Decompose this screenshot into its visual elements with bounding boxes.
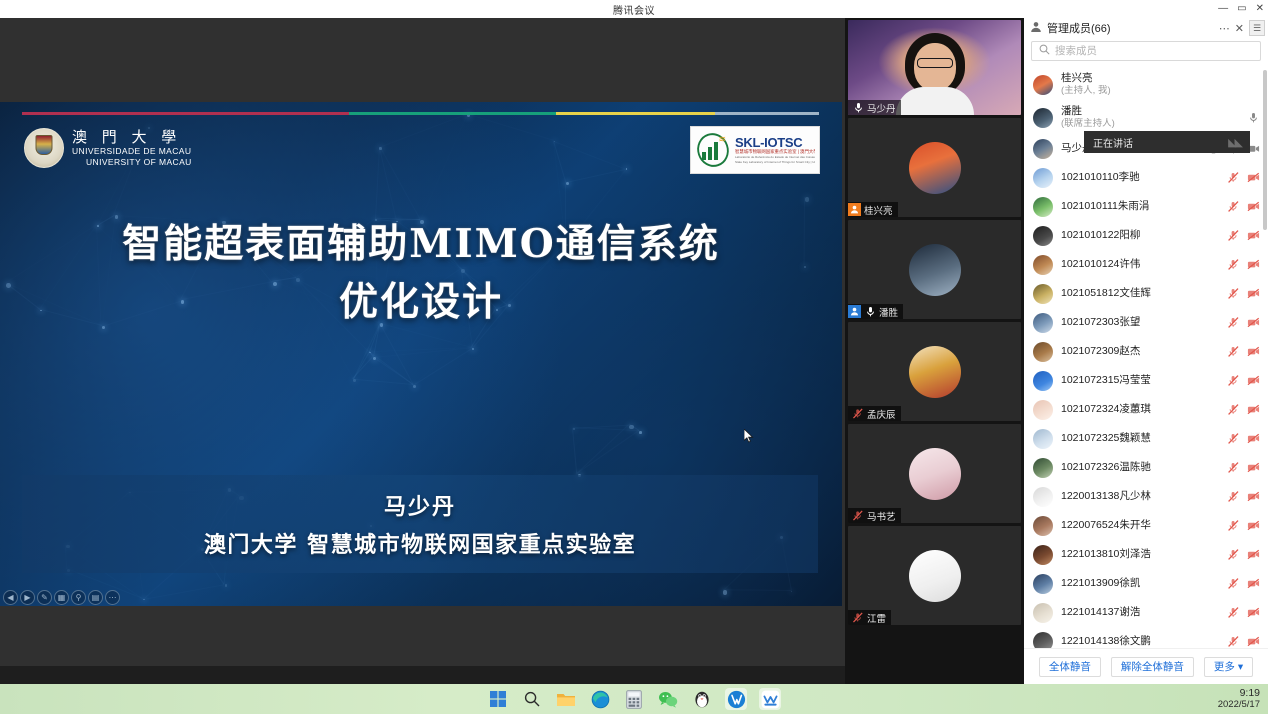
camera-off-icon[interactable] bbox=[1247, 316, 1260, 329]
camera-off-icon[interactable] bbox=[1247, 490, 1260, 503]
participant-row[interactable]: 1220013138凡少林 bbox=[1024, 482, 1268, 511]
um-name-cn: 澳 門 大 學 bbox=[72, 128, 192, 146]
microphone-on-icon bbox=[864, 305, 876, 318]
participant-avatar bbox=[1033, 371, 1053, 391]
participants-panel-footer: 全体静音 解除全体静音 更多 ▾ bbox=[1024, 648, 1268, 684]
participant-avatar bbox=[1033, 458, 1053, 478]
slide-title: 智能超表面辅助MIMO通信系统 优化设计 bbox=[0, 215, 842, 331]
participant-row[interactable]: 1021051812文佳辉 bbox=[1024, 279, 1268, 308]
video-tile-name: 桂兴亮 bbox=[864, 203, 893, 217]
participant-name: 1021010124许伟 bbox=[1061, 258, 1219, 271]
participant-avatar bbox=[1033, 168, 1053, 188]
participant-avatar bbox=[1033, 429, 1053, 449]
video-tile[interactable]: 江雷 bbox=[848, 526, 1021, 625]
video-tile[interactable]: 潘胜 bbox=[848, 220, 1021, 319]
microphone-muted-icon[interactable] bbox=[1227, 577, 1240, 590]
um-crest-icon bbox=[24, 128, 64, 168]
camera-off-icon[interactable] bbox=[1247, 432, 1260, 445]
audio-wave-icon: ◣◣ bbox=[1228, 136, 1241, 149]
participant-row[interactable]: 1021072309赵杰 bbox=[1024, 337, 1268, 366]
slide-title-line-1: 智能超表面辅助MIMO通信系统 bbox=[0, 215, 842, 273]
participant-row[interactable]: 1221014137谢浩 bbox=[1024, 598, 1268, 627]
microphone-muted-icon[interactable] bbox=[1227, 258, 1240, 271]
video-tile-name-bar: 潘胜 bbox=[848, 304, 903, 319]
chevron-down-icon: ▾ bbox=[1238, 661, 1243, 673]
microphone-on-icon bbox=[852, 101, 864, 114]
participant-avatar bbox=[1033, 313, 1053, 333]
search-icon[interactable] bbox=[521, 688, 543, 710]
participant-avatar bbox=[1033, 516, 1053, 536]
participant-name: 1220076524朱开华 bbox=[1061, 519, 1219, 532]
microphone-muted-icon[interactable] bbox=[1227, 635, 1240, 648]
video-filmstrip[interactable]: 马少丹桂兴亮潘胜孟庆辰马书艺江雷 bbox=[845, 18, 1024, 684]
presentation-toolbar[interactable]: ◀▶✎▦⚲▤⋯ bbox=[3, 590, 120, 605]
video-tile-name: 孟庆辰 bbox=[867, 407, 896, 421]
slide-title-line-2: 优化设计 bbox=[0, 273, 842, 331]
video-tile-name-bar: 马书艺 bbox=[848, 508, 901, 523]
shared-screen-region[interactable]: 澳 門 大 學 UNIVERSIDADE DE MACAU UNIVERSITY… bbox=[0, 18, 845, 666]
um-name-pt: UNIVERSIDADE DE MACAU bbox=[72, 146, 192, 157]
speaking-tooltip-label: 正在讲话 bbox=[1093, 135, 1133, 150]
participant-name: 1021010111朱雨涓 bbox=[1061, 200, 1219, 213]
slide-affiliation: 澳门大学 智慧城市物联网国家重点实验室 bbox=[204, 527, 636, 559]
microsoft-edge-icon[interactable] bbox=[589, 688, 611, 710]
window-controls: — ▭ ✕ bbox=[1218, 0, 1264, 18]
tencent-meeting-icon[interactable] bbox=[759, 688, 781, 710]
microphone-muted-icon[interactable] bbox=[1227, 432, 1240, 445]
microphone-muted-icon[interactable] bbox=[1227, 461, 1240, 474]
microphone-muted-icon bbox=[852, 611, 864, 624]
participant-row[interactable]: 1220076524朱开华 bbox=[1024, 511, 1268, 540]
participant-row[interactable]: 1221013810刘泽浩 bbox=[1024, 540, 1268, 569]
participant-name: 潘胜 bbox=[1061, 105, 1239, 118]
video-tile[interactable]: 马书艺 bbox=[848, 424, 1021, 523]
wechat-icon[interactable] bbox=[657, 688, 679, 710]
participant-avatar bbox=[1033, 197, 1053, 217]
participant-avatar bbox=[909, 142, 961, 194]
panel-close-icon[interactable]: ✕ bbox=[1235, 22, 1244, 35]
video-tile-name: 潘胜 bbox=[879, 305, 898, 319]
participant-row[interactable]: 1021010122阳柳 bbox=[1024, 221, 1268, 250]
microphone-muted-icon[interactable] bbox=[1227, 287, 1240, 300]
participant-avatar bbox=[1033, 342, 1053, 362]
slide-thumbnails-button[interactable]: ▦ bbox=[54, 590, 69, 605]
windows-taskbar[interactable]: 9:19 2022/5/17 bbox=[0, 684, 1268, 714]
unmute-all-label: 解除全体静音 bbox=[1121, 659, 1184, 674]
panel-more-icon[interactable]: ⋯ bbox=[1219, 22, 1230, 35]
video-tile[interactable]: 桂兴亮 bbox=[848, 118, 1021, 217]
host-badge-icon bbox=[848, 203, 861, 216]
microphone-muted-icon[interactable] bbox=[1227, 548, 1240, 561]
video-tile[interactable]: 孟庆辰 bbox=[848, 322, 1021, 421]
participant-avatar bbox=[909, 244, 961, 296]
presenter-view-button[interactable]: ▤ bbox=[88, 590, 103, 605]
participant-row[interactable]: 1021072315冯莹莹 bbox=[1024, 366, 1268, 395]
participant-row[interactable]: 1021010111朱雨涓 bbox=[1024, 192, 1268, 221]
participant-avatar bbox=[1033, 75, 1053, 95]
skl-logo-sub2: State Key Laboratory of Internet of Thin… bbox=[735, 160, 815, 164]
participant-name: 1220013138凡少林 bbox=[1061, 490, 1219, 503]
clock-time: 9:19 bbox=[1218, 687, 1260, 699]
participant-row[interactable]: 1021072325魏颖慧 bbox=[1024, 424, 1268, 453]
video-tile-name-bar: 江雷 bbox=[848, 610, 891, 625]
microphone-muted-icon[interactable] bbox=[1227, 316, 1240, 329]
participant-avatar bbox=[1033, 255, 1053, 275]
skl-mark-icon: ≋ bbox=[695, 132, 731, 168]
more-actions-label: 更多 bbox=[1214, 659, 1235, 674]
minimize-button[interactable]: — bbox=[1218, 0, 1228, 18]
slide-color-rule bbox=[22, 112, 819, 115]
participant-avatar bbox=[909, 448, 961, 500]
start-button[interactable] bbox=[487, 688, 509, 710]
participant-row[interactable]: 潘胜(联席主持人) bbox=[1024, 101, 1268, 134]
camera-off-icon[interactable] bbox=[1247, 403, 1260, 416]
participant-avatar bbox=[1033, 284, 1053, 304]
microphone-muted-icon[interactable] bbox=[1227, 374, 1240, 387]
close-button[interactable]: ✕ bbox=[1256, 0, 1264, 18]
unmute-all-button[interactable]: 解除全体静音 bbox=[1111, 657, 1194, 677]
meeting-window: 澳 門 大 學 UNIVERSIDADE DE MACAU UNIVERSITY… bbox=[0, 18, 1268, 684]
skl-iotsc-logo: ≋ SKL-IOTSC 智慧城市物联网国家重点实验室 | 澳門大學 Labora… bbox=[690, 126, 820, 174]
microphone-muted-icon bbox=[852, 407, 864, 420]
speaking-tooltip: 正在讲话 ◣◣ bbox=[1084, 131, 1250, 153]
video-tile-name: 马少丹 bbox=[867, 101, 896, 115]
microphone-muted-icon[interactable] bbox=[1227, 490, 1240, 503]
wps-icon[interactable] bbox=[725, 688, 747, 710]
participant-avatar bbox=[909, 550, 961, 602]
participants-scrollbar[interactable] bbox=[1263, 70, 1267, 230]
skl-logo-sub1: Laboratório de Referência do Estado de I… bbox=[735, 155, 815, 159]
participants-icon bbox=[1030, 21, 1042, 36]
participant-name: 1021072303张望 bbox=[1061, 316, 1219, 329]
mouse-cursor bbox=[744, 429, 754, 443]
participant-row[interactable]: 桂兴亮(主持人, 我) bbox=[1024, 68, 1268, 101]
microphone-on-icon[interactable] bbox=[1247, 111, 1260, 124]
participant-avatar bbox=[909, 346, 961, 398]
camera-off-icon[interactable] bbox=[1247, 229, 1260, 242]
search-input[interactable] bbox=[1055, 45, 1253, 57]
participants-panel[interactable]: 管理成员(66) ⋯ ✕ ☰ 桂兴亮(主持人, 我)潘胜(联席主持人)马少丹10… bbox=[1024, 18, 1268, 684]
participant-name: 1221013909徐凯 bbox=[1061, 577, 1219, 590]
camera-off-icon[interactable] bbox=[1247, 258, 1260, 271]
microphone-muted-icon[interactable] bbox=[1227, 519, 1240, 532]
participants-search-area bbox=[1024, 38, 1268, 66]
um-name-en: UNIVERSITY OF MACAU bbox=[72, 157, 192, 168]
university-of-macau-logo: 澳 門 大 學 UNIVERSIDADE DE MACAU UNIVERSITY… bbox=[24, 128, 192, 168]
video-tile-name-bar: 桂兴亮 bbox=[848, 202, 898, 217]
slide-presenter-name: 马少丹 bbox=[384, 489, 456, 521]
zoom-tool-button[interactable]: ⚲ bbox=[71, 590, 86, 605]
camera-off-icon[interactable] bbox=[1247, 461, 1260, 474]
pen-tool-button[interactable]: ✎ bbox=[37, 590, 52, 605]
participant-role-label: (联席主持人) bbox=[1061, 118, 1239, 130]
participant-name: 1021072326温陈驰 bbox=[1061, 461, 1219, 474]
panel-grip-icon[interactable]: ☰ bbox=[1249, 20, 1265, 36]
calculator-icon[interactable] bbox=[623, 688, 645, 710]
prev-slide-button[interactable]: ◀ bbox=[3, 590, 18, 605]
camera-off-icon[interactable] bbox=[1247, 374, 1260, 387]
participant-avatar bbox=[1033, 139, 1053, 159]
window-title-bar: 腾讯会议 — ▭ ✕ bbox=[0, 0, 1268, 18]
co-host-badge-icon bbox=[848, 305, 861, 318]
skl-logo-title: SKL-IOTSC bbox=[735, 136, 815, 149]
slide-presenter-band: 马少丹 澳门大学 智慧城市物联网国家重点实验室 bbox=[22, 475, 818, 573]
camera-off-icon[interactable] bbox=[1247, 519, 1260, 532]
more-actions-button[interactable]: 更多 ▾ bbox=[1204, 657, 1253, 677]
participant-row[interactable]: 1021010124许伟 bbox=[1024, 250, 1268, 279]
participant-avatar bbox=[1033, 574, 1053, 594]
camera-off-icon[interactable] bbox=[1247, 200, 1260, 213]
video-tile-name-bar: 孟庆辰 bbox=[848, 406, 901, 421]
taskbar-icons[interactable] bbox=[487, 688, 781, 710]
microphone-muted-icon[interactable] bbox=[1227, 606, 1240, 619]
participants-panel-header: 管理成员(66) ⋯ ✕ ☰ bbox=[1024, 18, 1268, 38]
presentation-slide[interactable]: 澳 門 大 學 UNIVERSIDADE DE MACAU UNIVERSITY… bbox=[0, 102, 842, 606]
camera-off-icon[interactable] bbox=[1247, 287, 1260, 300]
participant-name: 1021010122阳柳 bbox=[1061, 229, 1219, 242]
camera-off-icon[interactable] bbox=[1247, 606, 1260, 619]
camera-off-icon[interactable] bbox=[1247, 345, 1260, 358]
qq-icon[interactable] bbox=[691, 688, 713, 710]
participants-panel-title: 管理成员(66) bbox=[1047, 20, 1111, 36]
participant-name: 1221014137谢浩 bbox=[1061, 606, 1219, 619]
camera-off-icon[interactable] bbox=[1247, 171, 1260, 184]
search-box[interactable] bbox=[1031, 41, 1261, 61]
mute-all-label: 全体静音 bbox=[1049, 659, 1091, 674]
participant-name: 1021072309赵杰 bbox=[1061, 345, 1219, 358]
clock-date: 2022/5/17 bbox=[1218, 699, 1260, 711]
participants-list[interactable]: 桂兴亮(主持人, 我)潘胜(联席主持人)马少丹1021010110李驰10210… bbox=[1024, 68, 1268, 665]
next-slide-button[interactable]: ▶ bbox=[20, 590, 35, 605]
mute-all-button[interactable]: 全体静音 bbox=[1039, 657, 1101, 677]
more-options-button[interactable]: ⋯ bbox=[105, 590, 120, 605]
participant-name: 桂兴亮 bbox=[1061, 72, 1252, 85]
window-title: 腾讯会议 bbox=[613, 2, 655, 17]
taskbar-clock[interactable]: 9:19 2022/5/17 bbox=[1218, 687, 1260, 711]
search-icon bbox=[1039, 44, 1050, 58]
participant-row[interactable]: 1221013909徐凯 bbox=[1024, 569, 1268, 598]
participant-avatar bbox=[1033, 108, 1053, 128]
video-tile-name: 江雷 bbox=[867, 611, 886, 625]
camera-off-icon[interactable] bbox=[1247, 548, 1260, 561]
participant-row[interactable]: 1021072303张望 bbox=[1024, 308, 1268, 337]
participant-name: 1021051812文佳辉 bbox=[1061, 287, 1219, 300]
participant-avatar bbox=[1033, 603, 1053, 623]
microphone-muted-icon[interactable] bbox=[1227, 345, 1240, 358]
participant-name: 1021072324凌蕙琪 bbox=[1061, 403, 1219, 416]
maximize-button[interactable]: ▭ bbox=[1237, 0, 1246, 18]
file-explorer-icon[interactable] bbox=[555, 688, 577, 710]
camera-off-icon[interactable] bbox=[1247, 635, 1260, 648]
microphone-muted-icon bbox=[852, 509, 864, 522]
microphone-muted-icon[interactable] bbox=[1227, 229, 1240, 242]
participant-name: 1221014138徐文鹏 bbox=[1061, 635, 1219, 648]
participant-name: 1021072325魏颖慧 bbox=[1061, 432, 1219, 445]
participant-avatar bbox=[1033, 545, 1053, 565]
microphone-muted-icon[interactable] bbox=[1227, 171, 1240, 184]
video-tile-name-bar: 马少丹 bbox=[848, 100, 901, 115]
participant-name: 1021072315冯莹莹 bbox=[1061, 374, 1219, 387]
video-tile[interactable]: 马少丹 bbox=[848, 20, 1021, 115]
video-tile-name: 马书艺 bbox=[867, 509, 896, 523]
participant-row[interactable]: 1021072326温陈驰 bbox=[1024, 453, 1268, 482]
camera-off-icon[interactable] bbox=[1247, 577, 1260, 590]
participant-name: 1021010110李驰 bbox=[1061, 171, 1219, 184]
participant-name: 1221013810刘泽浩 bbox=[1061, 548, 1219, 561]
participant-row[interactable]: 1021072324凌蕙琪 bbox=[1024, 395, 1268, 424]
participant-avatar bbox=[1033, 400, 1053, 420]
microphone-muted-icon[interactable] bbox=[1227, 403, 1240, 416]
participant-avatar bbox=[1033, 487, 1053, 507]
participant-avatar bbox=[1033, 226, 1053, 246]
participant-row[interactable]: 1021010110李驰 bbox=[1024, 163, 1268, 192]
participant-role-label: (主持人, 我) bbox=[1061, 85, 1252, 97]
microphone-muted-icon[interactable] bbox=[1227, 200, 1240, 213]
